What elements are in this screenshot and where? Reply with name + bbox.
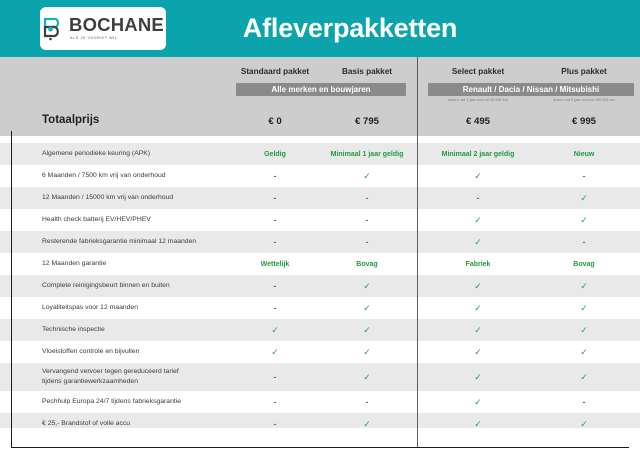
cell-plus: ✓ [534,275,634,297]
bochane-logo-icon [42,16,64,42]
cell-basis: ✓ [322,319,412,341]
cell-select: ✓ [428,165,528,187]
row-label: Vloeistoffen controle en bijvullen [42,341,139,363]
brand-tagline: ALS JE VOORUIT WIL [70,37,117,41]
cell-plus: ✓ [534,363,634,391]
table-row: Technische inspectie✓✓✓✓ [0,319,640,341]
row-label: Pechhulp Europa 24/7 tijdens fabrieksgar… [42,391,181,413]
cell-select: ✓ [428,275,528,297]
brand-name: BOCHANE [69,16,164,35]
cell-select: ✓ [428,209,528,231]
row-label: Algemene periodieke keuring (APK) [42,143,150,165]
column-header-select: Select pakket [428,67,528,76]
cell-standaard: - [230,363,320,391]
cell-standaard: ✓ [230,341,320,363]
cell-basis: ✓ [322,165,412,187]
cell-plus: ✓ [534,187,634,209]
row-label: 12 Maanden / 15000 km vrij van onderhoud [42,187,173,209]
cell-select: ✓ [428,319,528,341]
brand-text: BOCHANE ALS JE VOORUIT WIL [69,16,164,41]
cell-standaard: - [230,187,320,209]
column-fineprint-select: Auto's tot 1 jaar oud en 20.000 km [425,98,531,102]
table-row: 12 Maanden garantieWettelijkBovagFabriek… [0,253,640,275]
cell-plus: ✓ [534,209,634,231]
table-row: Health check batterij EV/HEV/PHEV--✓✓ [0,209,640,231]
cell-basis: Minimaal 1 jaar geldig [322,143,412,165]
cell-select: Minimaal 2 jaar geldig [428,143,528,165]
total-price-row: Totaalprijs € 0 € 795 € 495 € 995 [0,108,640,136]
row-label: Health check batterij EV/HEV/PHEV [42,209,151,231]
cell-plus: ✓ [534,341,634,363]
cell-basis: Bovag [322,253,412,275]
row-label: Technische inspectie [42,319,105,341]
cell-basis: ✓ [322,275,412,297]
table-row: Loyaliteitspas voor 12 maanden-✓✓✓ [0,297,640,319]
band-spacer [0,136,640,143]
total-price-label: Totaalprijs [42,114,99,126]
cell-standaard: - [230,231,320,253]
cell-standaard: - [230,391,320,413]
cell-basis: - [322,209,412,231]
cell-select: Fabriek [428,253,528,275]
table-bottom-rule [11,447,629,448]
brand-logo: BOCHANE ALS JE VOORUIT WIL [40,7,166,50]
column-group-pill-right: Renault / Dacia / Nissan / Mitsubishi [428,83,634,96]
row-label: Vervangend vervoer tegen gereduceerd tar… [42,363,179,391]
cell-select: ✓ [428,297,528,319]
cell-basis: ✓ [322,363,412,391]
table-row: Vervangend vervoer tegen gereduceerd tar… [0,363,640,391]
total-price-standaard: € 0 [230,116,320,127]
footer-band [0,428,640,453]
row-label: 6 Maanden / 7500 km vrij van onderhoud [42,165,166,187]
table-row: Vloeistoffen controle en bijvullen✓✓✓✓ [0,341,640,363]
cell-plus: - [534,231,634,253]
table-row: 12 Maanden / 15000 km vrij van onderhoud… [0,187,640,209]
cell-basis: - [322,187,412,209]
cell-basis: ✓ [322,341,412,363]
row-label: 12 Maanden garantie [42,253,106,275]
table-row: 6 Maanden / 7500 km vrij van onderhoud-✓… [0,165,640,187]
cell-basis: ✓ [322,297,412,319]
column-group-pill-left: Alle merken en bouwjaren [236,83,406,96]
column-header-basis: Basis pakket [322,67,412,76]
page-header: BOCHANE ALS JE VOORUIT WIL Afleverpakket… [0,0,640,57]
cell-select: ✓ [428,341,528,363]
cell-standaard: - [230,275,320,297]
table-left-rule [11,131,12,448]
column-header-standaard: Standaard pakket [230,67,320,76]
cell-plus: Nieuw [534,143,634,165]
table-row: Pechhulp Europa 24/7 tijdens fabrieksgar… [0,391,640,413]
feature-table: Algemene periodieke keuring (APK)GeldigM… [0,143,640,435]
cell-standaard: Wettelijk [230,253,320,275]
group-divider-rule [417,57,418,448]
cell-standaard: - [230,297,320,319]
cell-standaard: - [230,165,320,187]
total-price-plus: € 995 [534,116,634,127]
cell-select: ✓ [428,231,528,253]
cell-standaard: Geldig [230,143,320,165]
cell-plus: ✓ [534,297,634,319]
cell-select: ✓ [428,391,528,413]
table-row: Resterende fabrieksgarantie minimaal 12 … [0,231,640,253]
column-header-plus: Plus pakket [534,67,634,76]
cell-select: - [428,187,528,209]
column-header-band: Standaard pakketBasis pakketAlle merken … [0,57,640,108]
table-row: Complete reinigingsbeurt binnen en buite… [0,275,640,297]
row-label: Complete reinigingsbeurt binnen en buite… [42,275,170,297]
cell-plus: - [534,165,634,187]
afleverpakketten-comparison-sheet: BOCHANE ALS JE VOORUIT WIL Afleverpakket… [0,0,640,453]
cell-standaard: ✓ [230,319,320,341]
cell-select: ✓ [428,363,528,391]
cell-plus: ✓ [534,319,634,341]
cell-plus: Bovag [534,253,634,275]
cell-standaard: - [230,209,320,231]
cell-plus: - [534,391,634,413]
cell-basis: - [322,391,412,413]
row-label: Resterende fabrieksgarantie minimaal 12 … [42,231,196,253]
total-price-basis: € 795 [322,116,412,127]
table-row: Algemene periodieke keuring (APK)GeldigM… [0,143,640,165]
column-fineprint-plus: Auto's tot 5 jaar oud en 100.000 km [531,98,637,102]
row-label: Loyaliteitspas voor 12 maanden [42,297,138,319]
total-price-select: € 495 [428,116,528,127]
cell-basis: - [322,231,412,253]
